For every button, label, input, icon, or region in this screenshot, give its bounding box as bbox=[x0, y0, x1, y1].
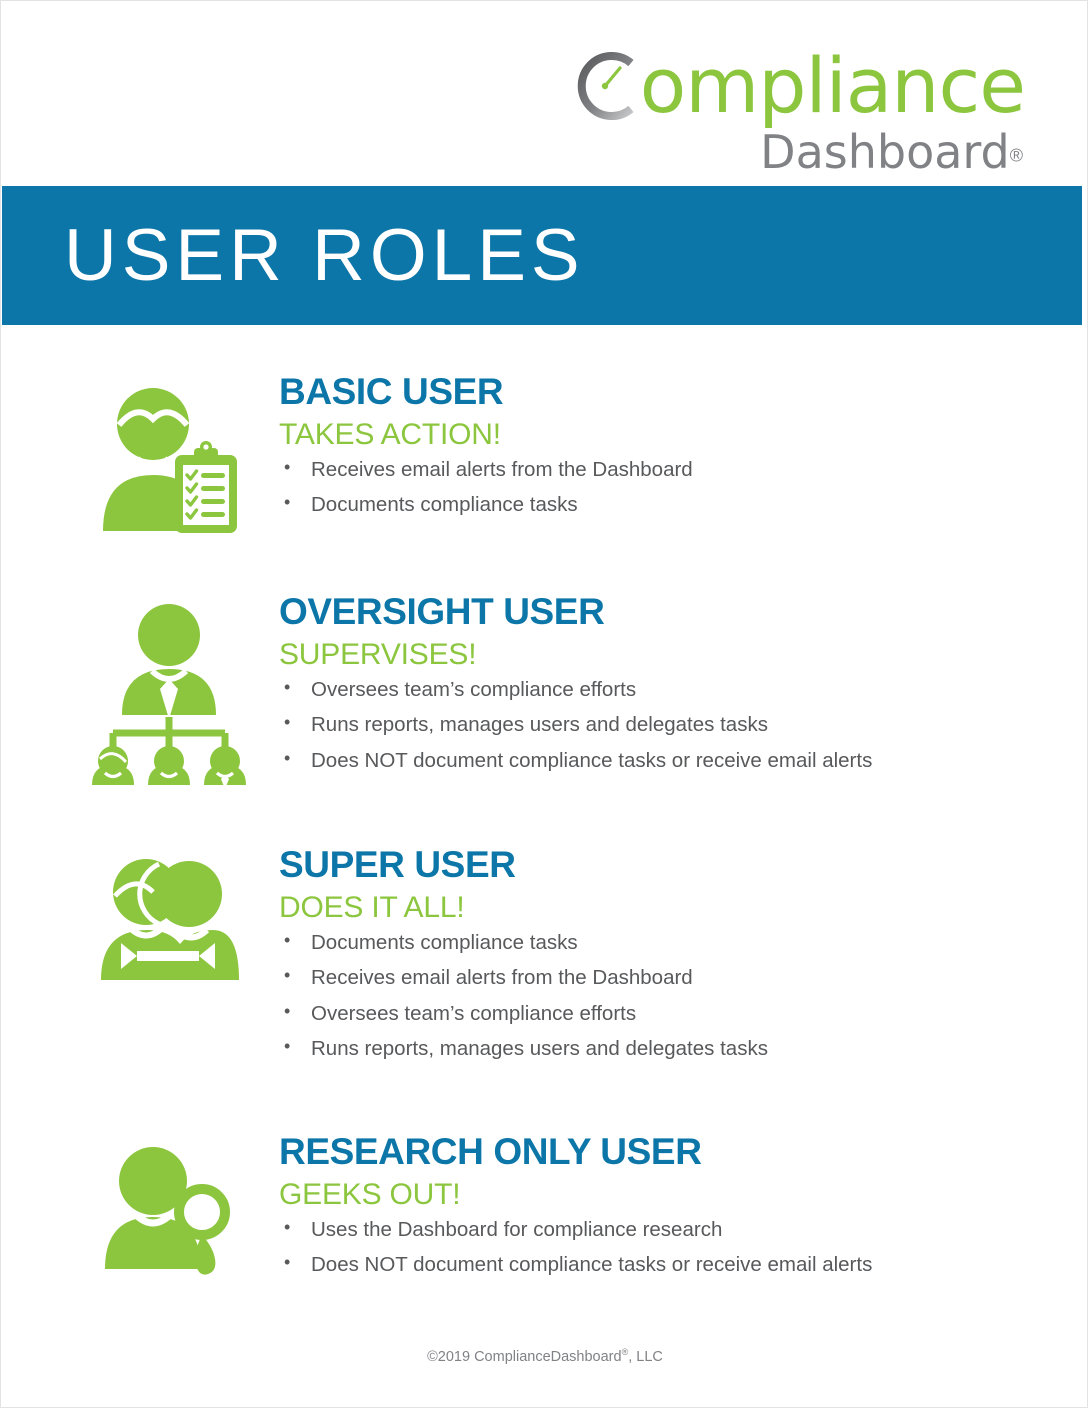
role-section-research-only-user: RESEARCH ONLY USER GEEKS OUT! Uses the D… bbox=[71, 1133, 1031, 1290]
role-title: OVERSIGHT USER bbox=[279, 593, 1031, 632]
logo-primary-row: ompliance bbox=[555, 45, 1025, 127]
role-tagline: DOES IT ALL! bbox=[279, 891, 1031, 924]
role-bullet-list: Uses the Dashboard for compliance resear… bbox=[267, 1219, 1031, 1277]
page-title-banner: USER ROLES bbox=[2, 186, 1082, 325]
role-tagline: TAKES ACTION! bbox=[279, 418, 1031, 451]
person-with-clipboard-icon bbox=[89, 379, 249, 539]
logo-wordmark: ompliance bbox=[640, 50, 1025, 122]
logo-registered-mark: ® bbox=[1010, 146, 1023, 166]
list-item: Runs reports, manages users and delegate… bbox=[267, 1038, 1031, 1061]
role-icon-wrap bbox=[71, 1133, 267, 1279]
list-item: Oversees team’s compliance efforts bbox=[267, 679, 1031, 702]
list-item: Runs reports, manages users and delegate… bbox=[267, 714, 1031, 737]
role-icon-wrap bbox=[71, 846, 267, 982]
role-title: BASIC USER bbox=[279, 373, 1031, 412]
role-section-super-user: SUPER USER DOES IT ALL! Documents compli… bbox=[71, 846, 1031, 1074]
role-icon-wrap bbox=[71, 373, 267, 539]
role-bullet-list: Receives email alerts from the Dashboard… bbox=[267, 459, 1031, 517]
footer-copyright-suffix: , LLC bbox=[628, 1349, 663, 1365]
list-item: Documents compliance tasks bbox=[267, 932, 1031, 955]
role-body: OVERSIGHT USER SUPERVISES! Oversees team… bbox=[267, 593, 1031, 785]
list-item: Documents compliance tasks bbox=[267, 494, 1031, 517]
person-with-magnifier-icon bbox=[89, 1139, 249, 1279]
logo-secondary-row: Dashboard® bbox=[555, 125, 1025, 179]
list-item: Uses the Dashboard for compliance resear… bbox=[267, 1219, 1031, 1242]
org-chart-team-icon bbox=[89, 599, 249, 785]
role-section-basic-user: BASIC USER TAKES ACTION! Receives email … bbox=[71, 373, 1031, 539]
role-tagline: SUPERVISES! bbox=[279, 638, 1031, 671]
page-title: USER ROLES bbox=[64, 214, 585, 297]
list-item: Oversees team’s compliance efforts bbox=[267, 1003, 1031, 1026]
list-item: Does NOT document compliance tasks or re… bbox=[267, 1254, 1031, 1277]
role-body: RESEARCH ONLY USER GEEKS OUT! Uses the D… bbox=[267, 1133, 1031, 1290]
footer-copyright-prefix: ©2019 ComplianceDashboard bbox=[427, 1349, 621, 1365]
clock-c-icon bbox=[568, 49, 642, 123]
list-item: Does NOT document compliance tasks or re… bbox=[267, 750, 1031, 773]
logo-subwordmark: Dashboard bbox=[760, 125, 1010, 179]
footer-copyright: ©2019 ComplianceDashboard®, LLC bbox=[1, 1347, 1088, 1365]
role-icon-wrap bbox=[71, 593, 267, 785]
role-title: SUPER USER bbox=[279, 846, 1031, 885]
document-page: ompliance Dashboard® USER ROLES bbox=[0, 0, 1088, 1408]
role-section-oversight-user: OVERSIGHT USER SUPERVISES! Oversees team… bbox=[71, 593, 1031, 785]
role-title: RESEARCH ONLY USER bbox=[279, 1133, 1031, 1172]
role-tagline: GEEKS OUT! bbox=[279, 1178, 1031, 1211]
list-item: Receives email alerts from the Dashboard bbox=[267, 459, 1031, 482]
role-bullet-list: Oversees team’s compliance efforts Runs … bbox=[267, 679, 1031, 773]
role-body: BASIC USER TAKES ACTION! Receives email … bbox=[267, 373, 1031, 530]
two-people-arrow-icon bbox=[89, 852, 249, 982]
role-body: SUPER USER DOES IT ALL! Documents compli… bbox=[267, 846, 1031, 1074]
role-bullet-list: Documents compliance tasks Receives emai… bbox=[267, 932, 1031, 1061]
list-item: Receives email alerts from the Dashboard bbox=[267, 967, 1031, 990]
compliance-dashboard-logo: ompliance Dashboard® bbox=[555, 45, 1025, 175]
